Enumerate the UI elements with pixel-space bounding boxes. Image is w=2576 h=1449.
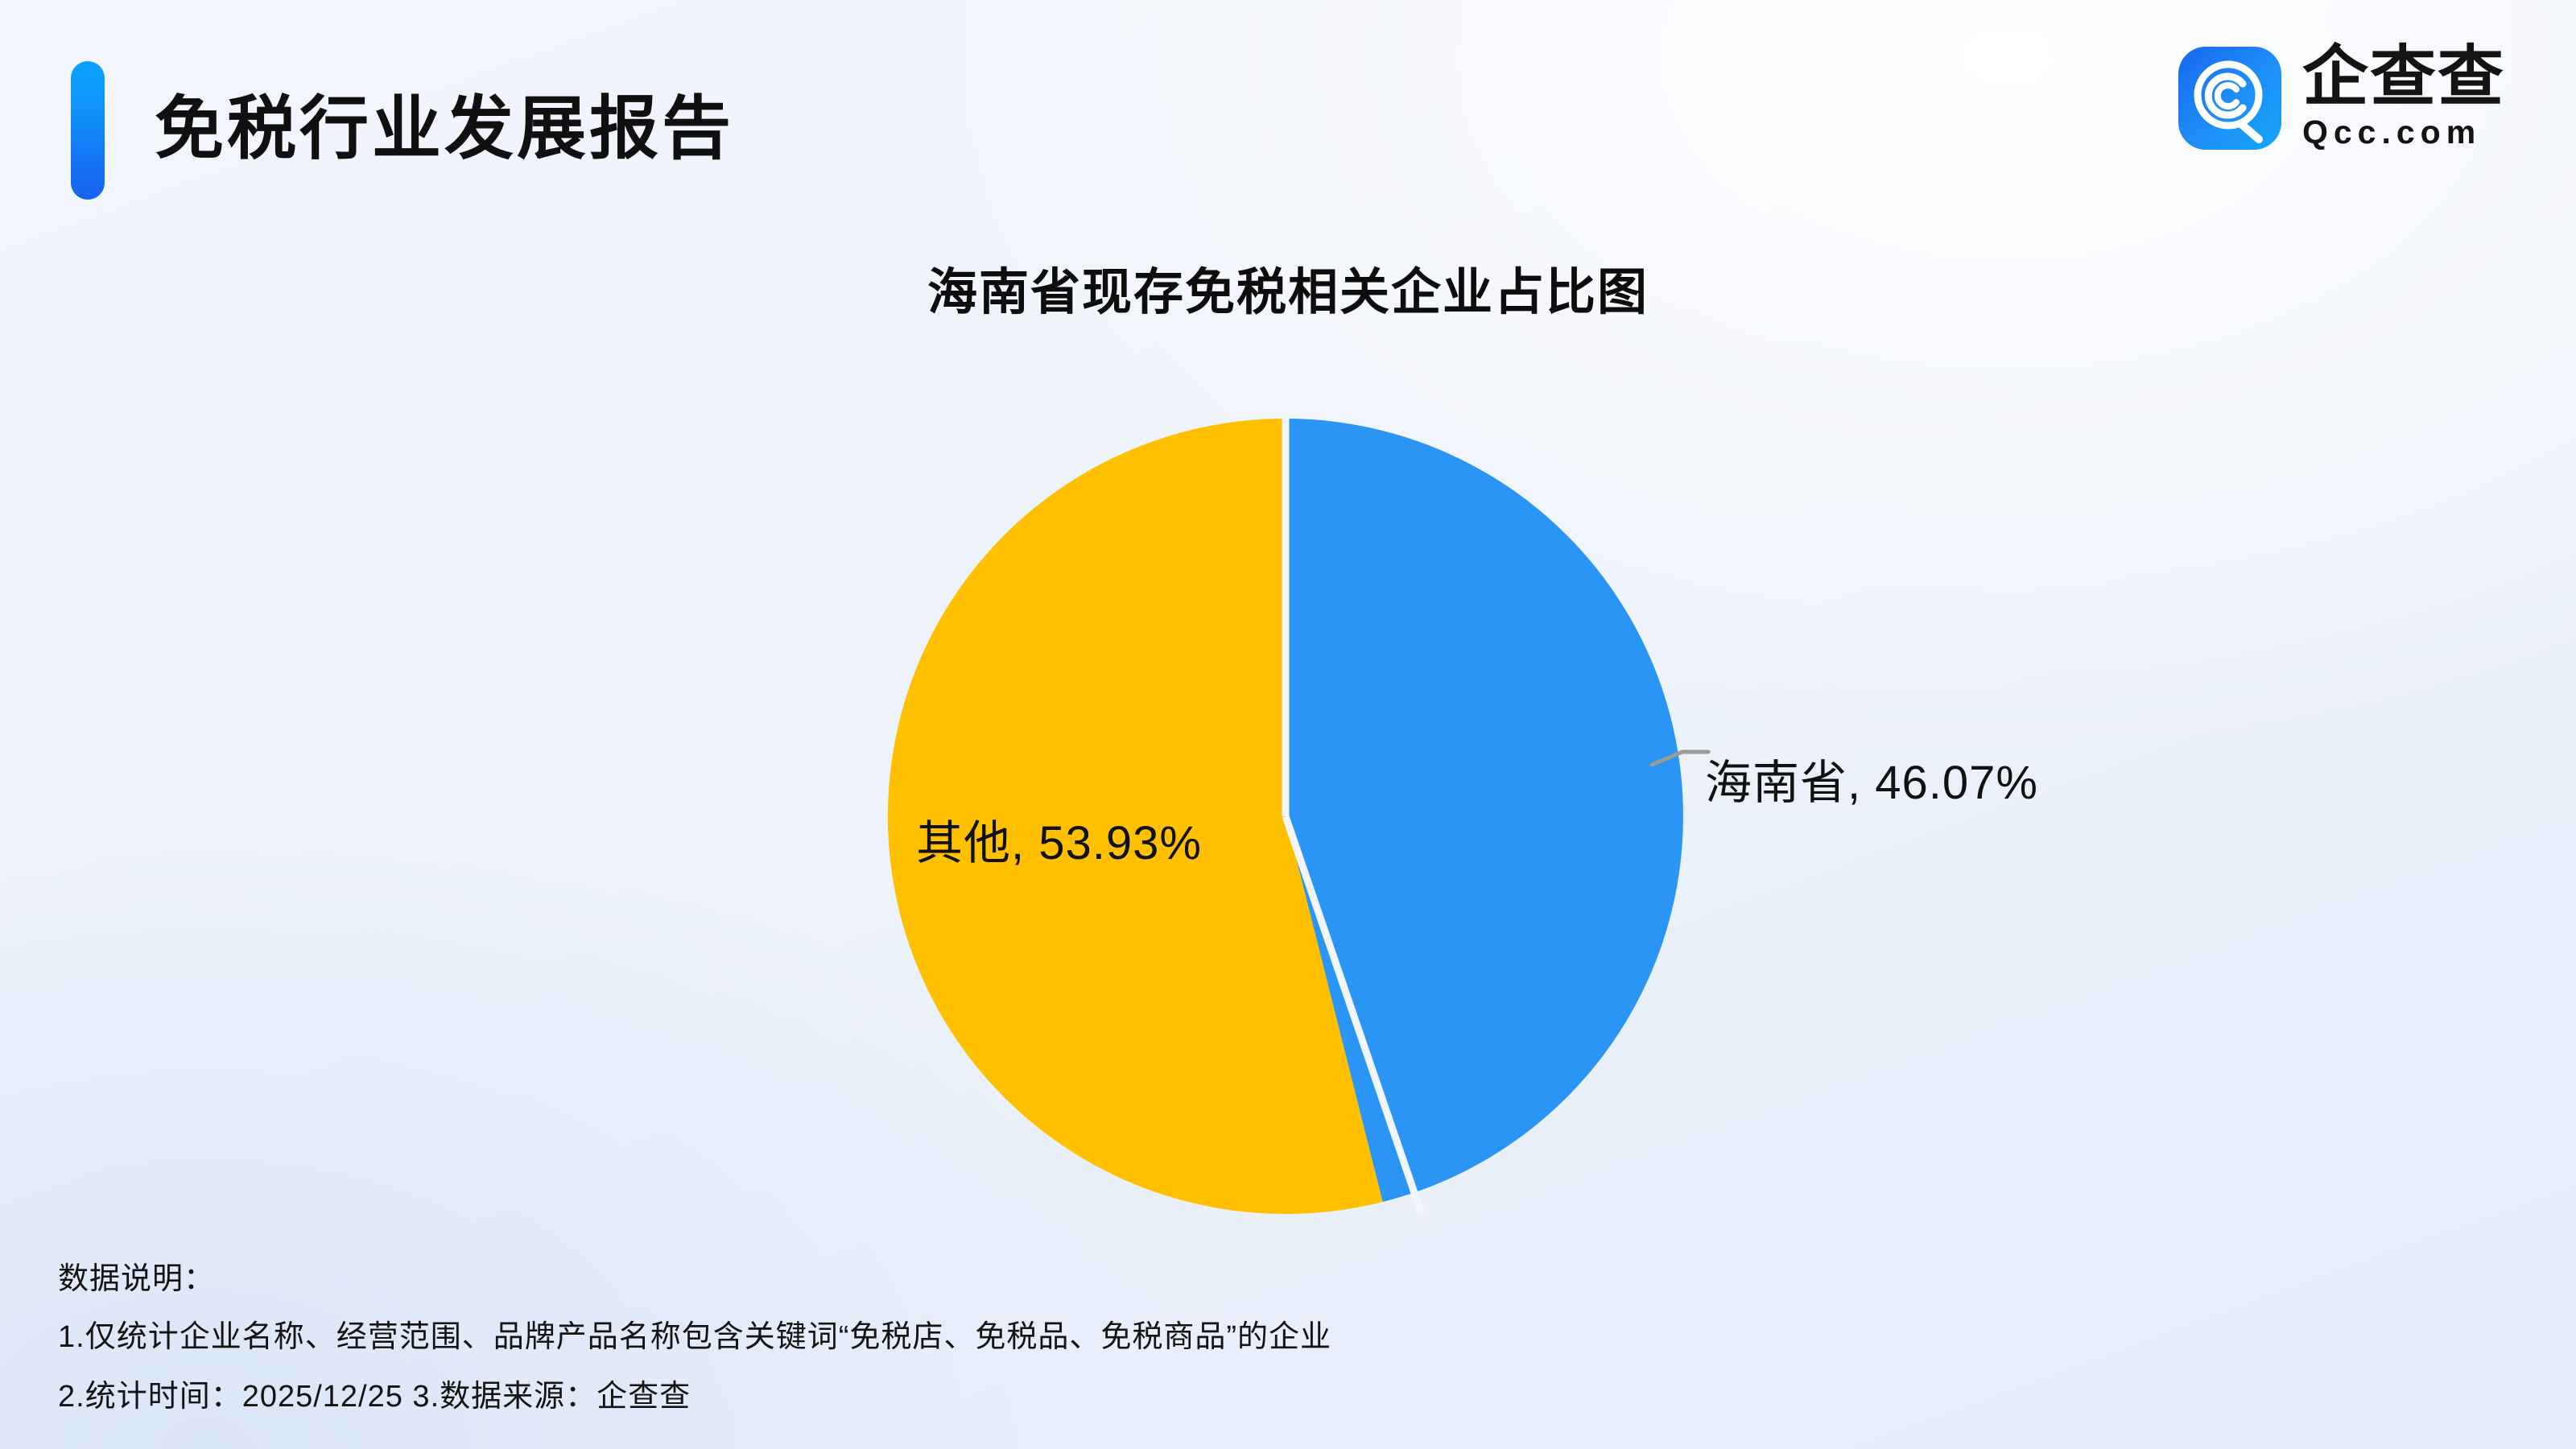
brand-name-cn: 企查查: [2302, 45, 2505, 109]
data-notes-heading: 数据说明：: [58, 1264, 2151, 1294]
pie-label-hainan: 海南省, 46.07%: [1705, 745, 2038, 812]
qcc-q-logo-icon: [2178, 47, 2281, 150]
title-accent-bar: [71, 61, 105, 200]
brand-logo[interactable]: 企查查 Qcc.com: [2178, 45, 2505, 152]
page-header: 免税行业发展报告 企查查 Qcc.com: [0, 0, 2576, 242]
pie-label-other: 其他, 53.93%: [916, 805, 1202, 873]
page-title: 免税行业发展报告: [155, 56, 734, 201]
pie-slice-hainan[interactable]: [1286, 419, 1683, 1202]
pie-leader-line: [1652, 752, 1708, 765]
data-notes: 数据说明： 1.仅统计企业名称、经营范围、品牌产品名称包含关键词“免税店、免税品…: [58, 1264, 2151, 1412]
data-note-1: 1.仅统计企业名称、经营范围、品牌产品名称包含关键词“免税店、免税品、免税商品”…: [58, 1322, 2151, 1352]
brand-logo-text: 企查查 Qcc.com: [2302, 45, 2505, 152]
brand-name-en: Qcc.com: [2302, 113, 2505, 151]
chart-title: 海南省现存免税相关企业占比图: [0, 251, 2576, 324]
data-note-2: 2.统计时间：2025/12/25 3.数据来源：企查查: [58, 1381, 2151, 1412]
